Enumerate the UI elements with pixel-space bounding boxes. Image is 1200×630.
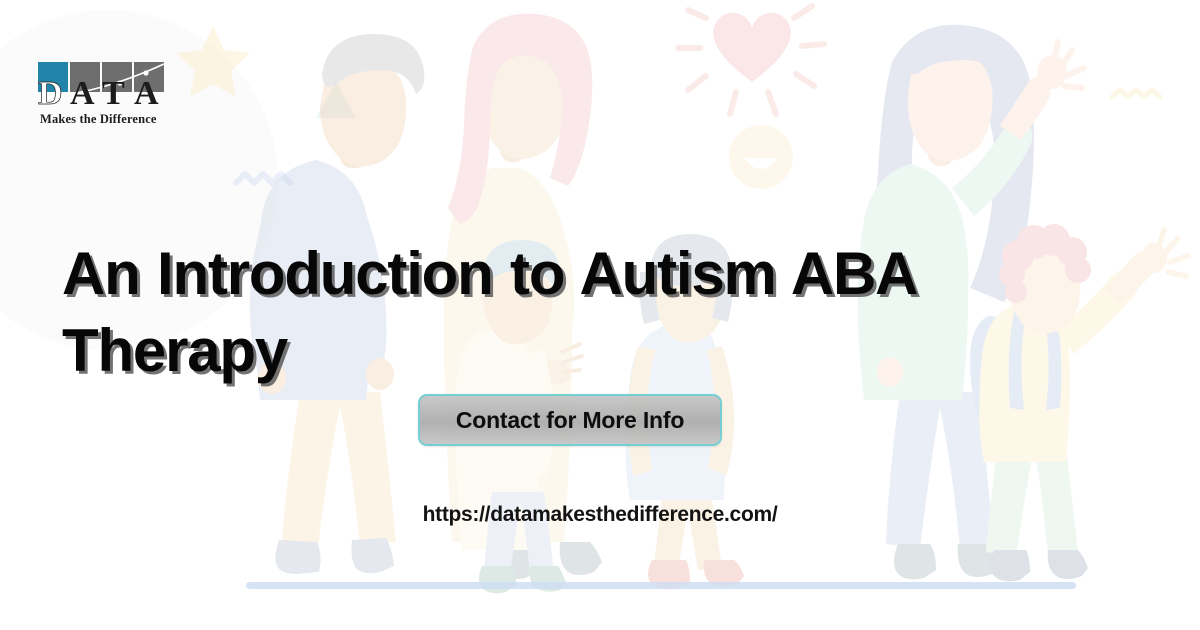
svg-text:T: T [102,75,127,110]
svg-text:D: D [38,75,65,110]
page-title: An Introduction to Autism ABA Therapy [62,236,1022,390]
cta-label: Contact for More Info [456,407,684,434]
website-url[interactable]: https://datamakesthedifference.com/ [0,503,1200,527]
brand-logo[interactable]: D A T A Makes the Difference [34,60,176,142]
logo-mark: D A T A [34,60,170,110]
contact-for-more-info-button[interactable]: Contact for More Info [418,394,722,446]
svg-text:A: A [134,75,161,110]
logo-tagline: Makes the Difference [34,112,176,127]
svg-text:A: A [70,75,97,110]
social-card: D A T A Makes the Difference An Introduc… [0,0,1200,630]
